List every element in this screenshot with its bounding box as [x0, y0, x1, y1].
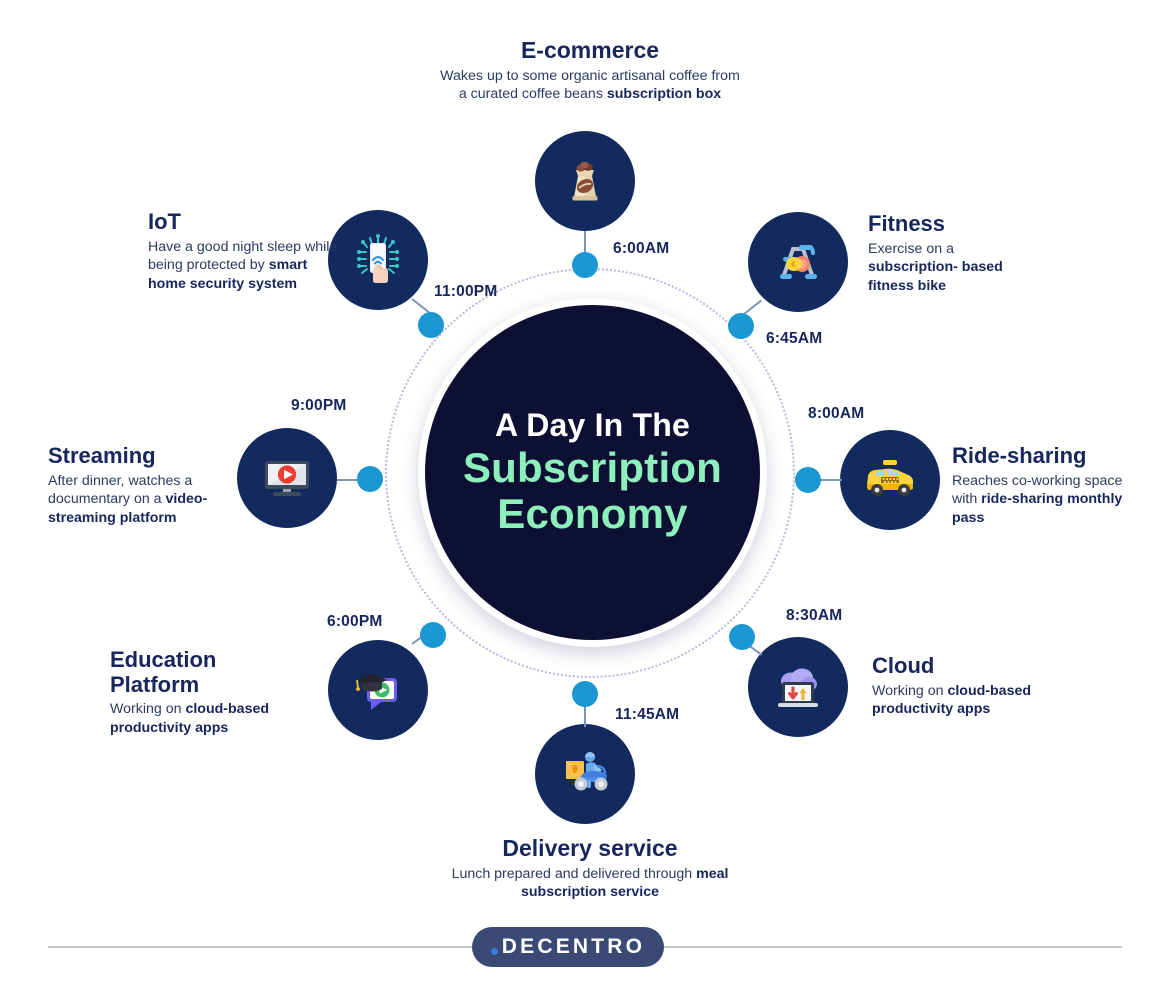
- time-label-education-platform: 6:00PM: [327, 613, 382, 631]
- node-text-streaming: Streaming After dinner, watches a docume…: [48, 444, 233, 528]
- node-body-text-education-platform: Working on: [110, 701, 185, 717]
- delivery-scooter-icon: [555, 744, 615, 804]
- node-title-ecommerce: E-commerce: [440, 38, 740, 64]
- stem-iot: [411, 298, 430, 313]
- orbit-dot-education-platform[interactable]: [420, 622, 446, 648]
- coffee-sack-icon: [557, 153, 613, 209]
- node-body-ecommerce: Wakes up to some organic artisanal coffe…: [440, 67, 740, 104]
- hub-title-line-3: Economy: [497, 492, 687, 536]
- icon-bubble-ride-sharing[interactable]: [840, 430, 940, 530]
- orbit-dot-streaming[interactable]: [357, 466, 383, 492]
- node-body-text-fitness: Exercise on a: [868, 241, 954, 257]
- time-label-cloud: 8:30AM: [786, 607, 842, 625]
- node-title-fitness: Fitness: [868, 212, 1036, 237]
- node-title-streaming: Streaming: [48, 444, 233, 469]
- decentro-logo[interactable]: DECENTRO: [472, 927, 664, 967]
- node-text-delivery-service: Delivery service Lunch prepared and deli…: [425, 836, 755, 902]
- node-body-bold-ecommerce: subscription box: [607, 86, 721, 102]
- node-text-fitness: Fitness Exercise on a subscription- base…: [868, 212, 1036, 296]
- node-text-ecommerce: E-commerce Wakes up to some organic arti…: [440, 38, 740, 104]
- orbit-dot-ecommerce[interactable]: [572, 252, 598, 278]
- time-label-streaming: 9:00PM: [291, 397, 346, 415]
- node-body-ride-sharing: Reaches co-working space with ride-shari…: [952, 472, 1134, 528]
- node-body-text-delivery-service: Lunch prepared and delivered through: [452, 866, 697, 882]
- icon-bubble-fitness[interactable]: [748, 212, 848, 312]
- node-body-iot: Have a good night sleep while being prot…: [148, 238, 338, 294]
- stem-fitness: [743, 300, 762, 315]
- node-body-text-iot: Have a good night sleep while being prot…: [148, 239, 337, 274]
- hub-title-line-2: Subscription: [463, 446, 722, 490]
- time-label-iot: 11:00PM: [434, 283, 497, 301]
- node-text-cloud: Cloud Working on cloud-based productivit…: [872, 654, 1052, 719]
- exercise-bike-icon: [769, 233, 827, 291]
- node-text-education-platform: Education Platform Working on cloud-base…: [110, 648, 310, 738]
- node-title-ride-sharing: Ride-sharing: [952, 444, 1134, 469]
- node-body-streaming: After dinner, watches a documentary on a…: [48, 472, 233, 528]
- time-label-ride-sharing: 8:00AM: [808, 405, 864, 423]
- icon-bubble-ecommerce[interactable]: [535, 131, 635, 231]
- node-title-education-platform: Education Platform: [110, 648, 310, 697]
- icon-bubble-delivery-service[interactable]: [535, 724, 635, 824]
- node-body-delivery-service: Lunch prepared and delivered through mea…: [425, 865, 755, 902]
- icon-bubble-cloud[interactable]: [748, 637, 848, 737]
- node-body-bold-fitness: subscription- based fitness bike: [868, 259, 1003, 294]
- time-label-ecommerce: 6:00AM: [613, 240, 669, 258]
- cloud-laptop-icon: [769, 658, 827, 716]
- icon-bubble-education-platform[interactable]: [328, 640, 428, 740]
- graduation-video-icon: [349, 661, 407, 719]
- node-title-cloud: Cloud: [872, 654, 1052, 679]
- orbit-dot-fitness[interactable]: [728, 313, 754, 339]
- orbit-dot-cloud[interactable]: [729, 624, 755, 650]
- node-body-fitness: Exercise on a subscription- based fitnes…: [868, 240, 1036, 296]
- center-hub: A Day In The Subscription Economy: [425, 305, 760, 640]
- orbit-dot-ride-sharing[interactable]: [795, 467, 821, 493]
- time-label-fitness: 6:45AM: [766, 330, 822, 348]
- infographic-canvas: A Day In The Subscription Economy E-comm…: [0, 0, 1170, 988]
- icon-bubble-iot[interactable]: [328, 210, 428, 310]
- taxi-icon: [859, 449, 921, 511]
- node-text-ride-sharing: Ride-sharing Reaches co-working space wi…: [952, 444, 1134, 528]
- node-body-education-platform: Working on cloud-based productivity apps: [110, 700, 310, 737]
- node-body-text-cloud: Working on: [872, 683, 947, 699]
- node-title-delivery-service: Delivery service: [425, 836, 755, 862]
- smart-home-touch-icon: [348, 230, 408, 290]
- time-label-delivery-service: 11:45AM: [615, 706, 679, 724]
- icon-bubble-streaming[interactable]: [237, 428, 337, 528]
- node-title-iot: IoT: [148, 210, 338, 235]
- logo-dot-icon: [491, 948, 498, 955]
- hub-title-line-1: A Day In The: [495, 409, 690, 442]
- orbit-dot-iot[interactable]: [418, 312, 444, 338]
- stem-ride-sharing: [818, 479, 842, 481]
- video-monitor-icon: [257, 448, 317, 508]
- orbit-dot-delivery-service[interactable]: [572, 681, 598, 707]
- logo-wordmark: DECENTRO: [502, 935, 645, 959]
- node-body-cloud: Working on cloud-based productivity apps: [872, 682, 1052, 719]
- node-text-iot: IoT Have a good night sleep while being …: [148, 210, 338, 294]
